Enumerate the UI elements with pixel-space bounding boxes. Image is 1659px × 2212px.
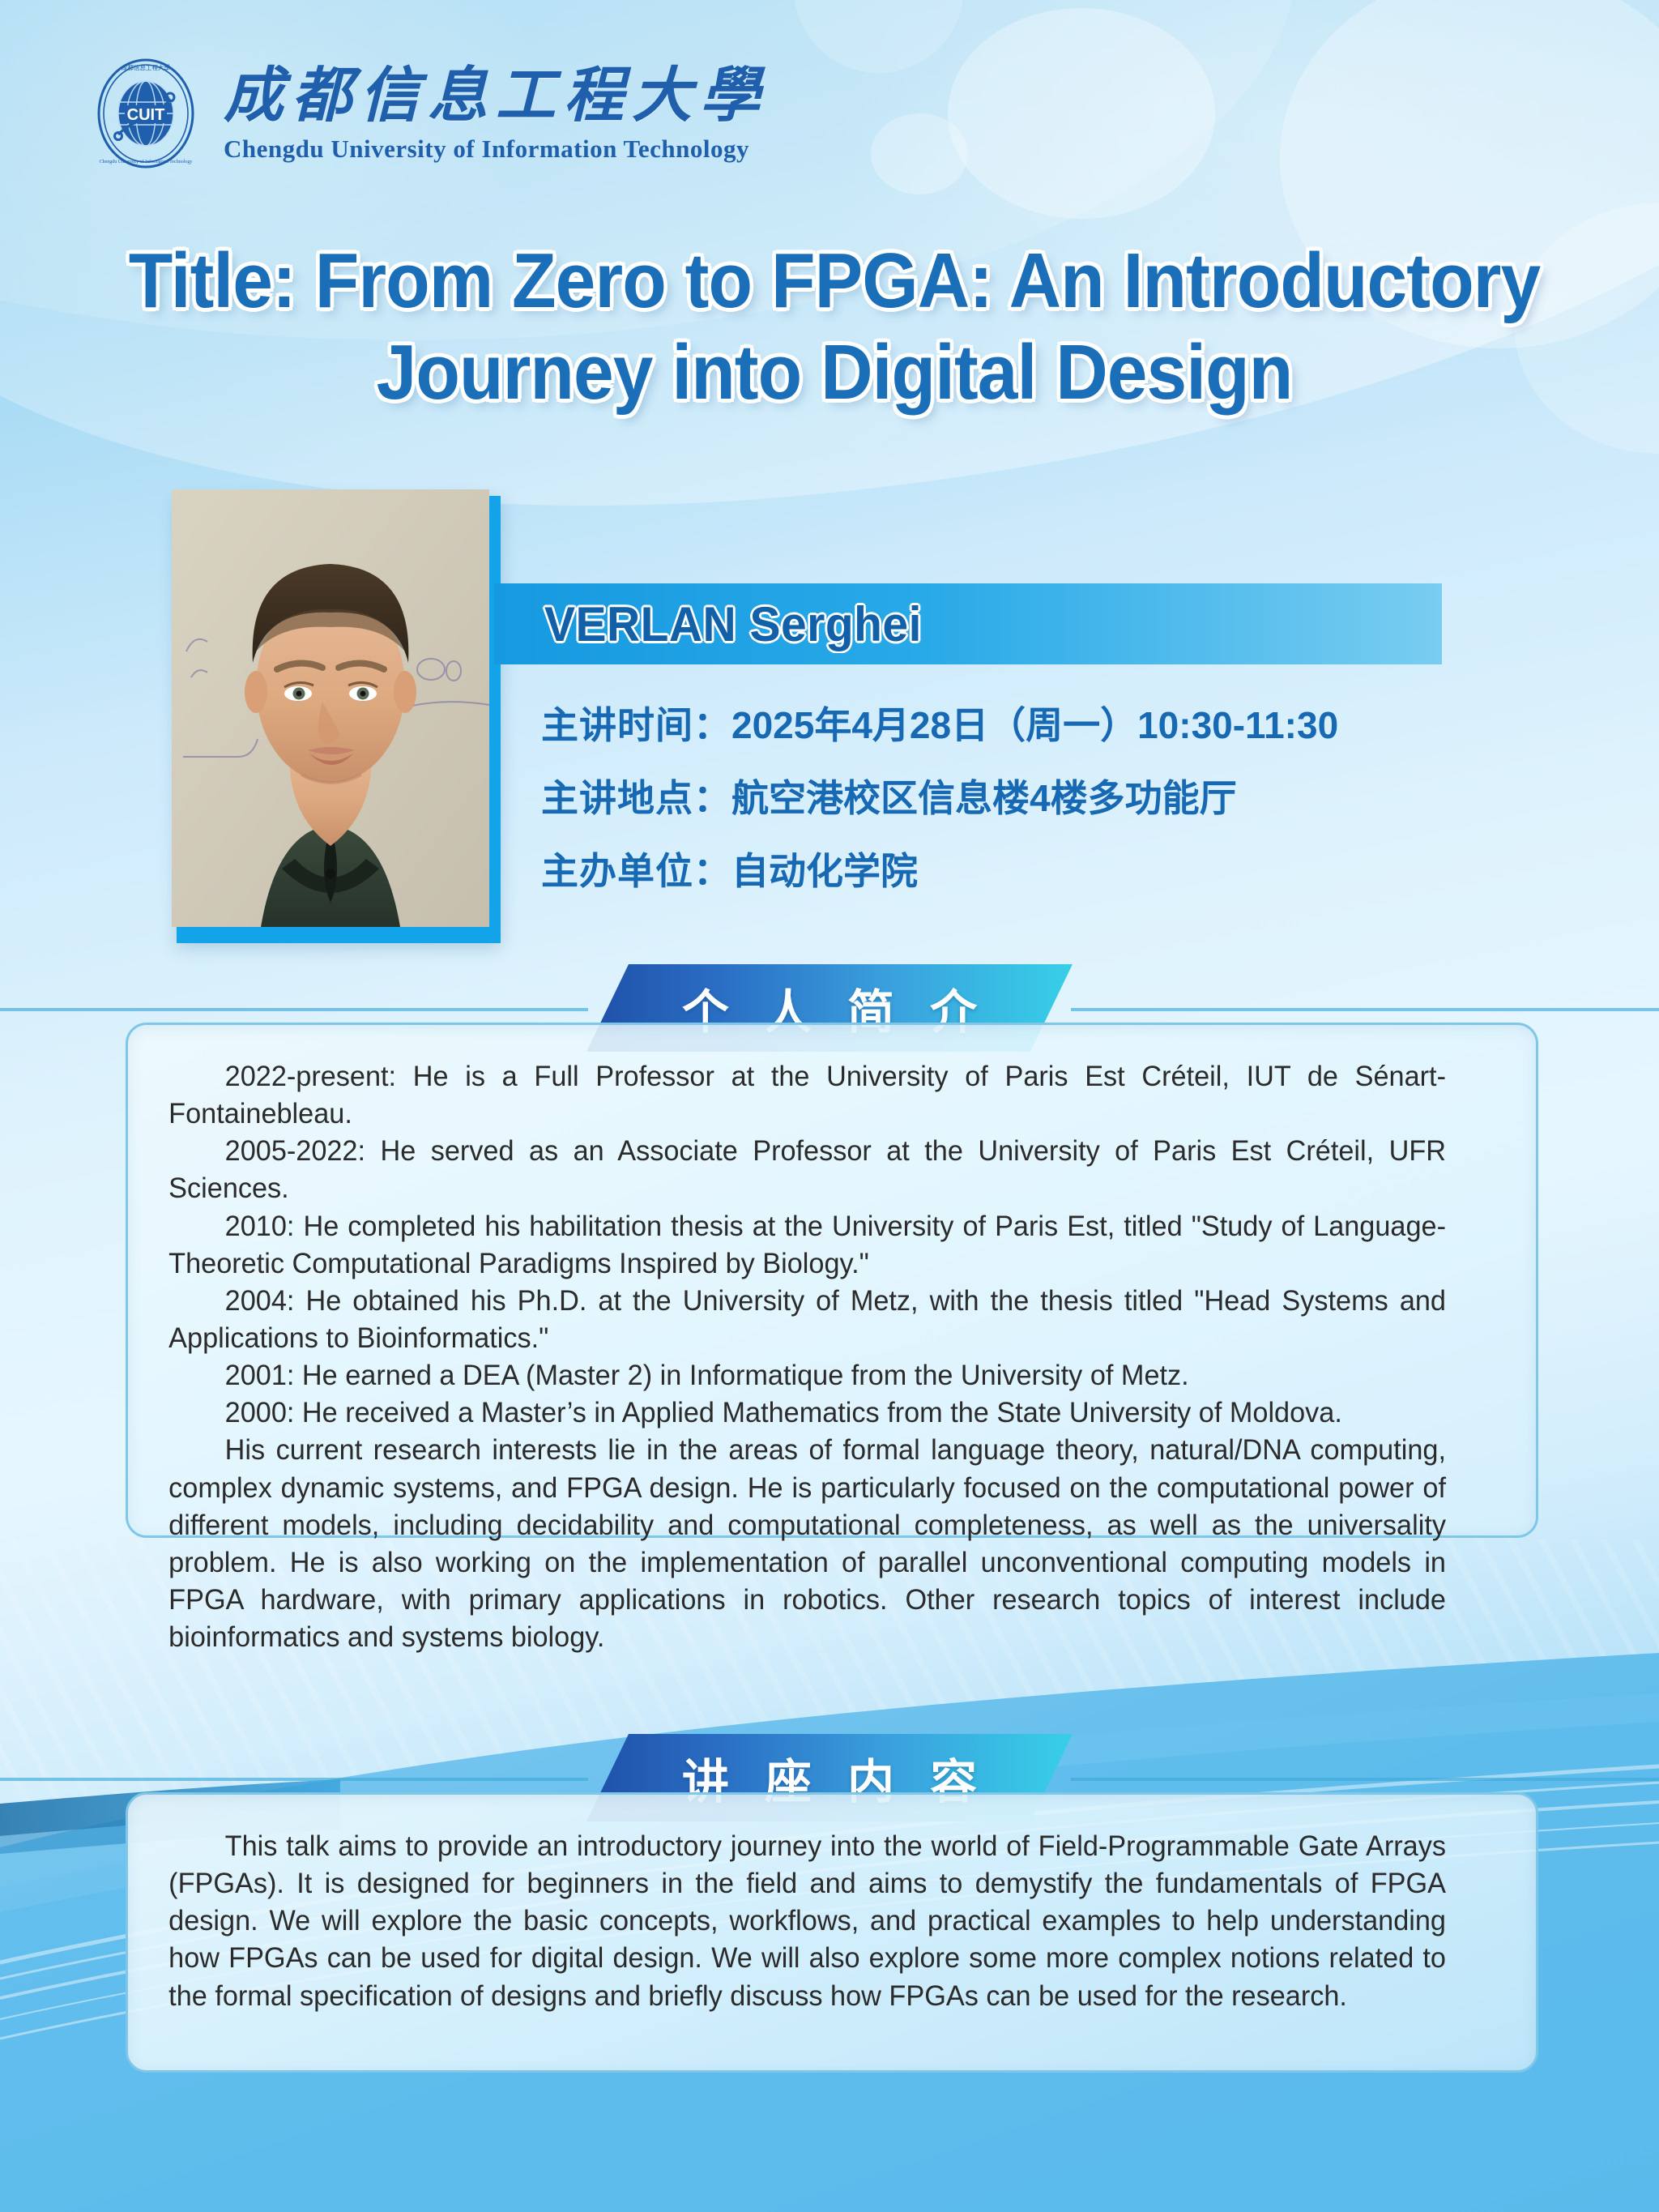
svg-text:Chengdu University of Informat: Chengdu University of Information Techno… [100,159,193,164]
speaker-name: VERLAN Serghei [544,596,922,652]
svg-text:成都信息工程大學: 成都信息工程大學 [122,63,170,71]
event-meta-list: 主讲时间：2025年4月28日（周一）10:30-11:30 主讲地点：航空港校… [541,707,1578,925]
event-meta-row: 主讲时间：2025年4月28日（周一）10:30-11:30 [541,707,1578,744]
bio-card: 2022-present: He is a Full Professor at … [126,1023,1538,1538]
bio-paragraph: 2022-present: He is a Full Professor at … [168,1057,1446,1132]
poster-root: CUIT 成都信息工程大學 Chengdu University of Info… [0,0,1659,2212]
title-line-2: Journey into Digital Design [126,327,1542,418]
banner-right-rule [1071,1778,1659,1781]
university-wordmark: 成都信息工程大學 Chengdu University of Informati… [224,66,768,161]
decorative-bubble [948,8,1215,219]
bio-paragraph: 2000: He received a Master’s in Applied … [168,1394,1446,1431]
decorative-bubble [794,0,964,73]
banner-left-rule [0,1008,588,1011]
banner-left-rule [0,1778,588,1781]
university-logo-row: CUIT 成都信息工程大學 Chengdu University of Info… [89,57,768,170]
svg-text:CUIT: CUIT [127,106,165,124]
university-name-en: Chengdu University of Information Techno… [224,136,768,161]
cuit-globe-logo-icon: CUIT 成都信息工程大學 Chengdu University of Info… [89,57,203,170]
event-meta-row: 主讲地点：航空港校区信息楼4楼多功能厅 [541,779,1578,817]
meta-value: 自动化学院 [731,850,918,892]
bio-paragraph: 2001: He earned a DEA (Master 2) in Info… [168,1356,1446,1394]
poster-title: Title: From Zero to FPGA: An Introductor… [126,235,1542,419]
meta-label: 主办单位： [541,850,731,892]
speaker-name-bar: VERLAN Serghei [494,583,1442,664]
university-name-cn: 成都信息工程大學 [224,66,768,126]
speaker-photo-frame [177,496,501,943]
bio-paragraph: 2005-2022: He served as an Associate Pro… [168,1132,1446,1206]
banner-right-rule [1071,1008,1659,1011]
title-line-1: Title: From Zero to FPGA: An Introductor… [126,235,1542,327]
abstract-paragraph: This talk aims to provide an introductor… [168,1827,1446,2014]
meta-value: 2025年4月28日（周一）10:30-11:30 [731,704,1338,746]
bio-paragraph: His current research interests lie in th… [168,1431,1446,1655]
speaker-portrait [172,489,489,927]
meta-value: 航空港校区信息楼4楼多功能厅 [731,777,1237,819]
decorative-bubble [871,113,968,194]
bio-card-body: 2022-present: He is a Full Professor at … [128,1025,1486,1691]
meta-label: 主讲地点： [541,777,731,819]
bio-paragraph: 2010: He completed his habilitation thes… [168,1207,1446,1282]
bio-paragraph: 2004: He obtained his Ph.D. at the Unive… [168,1282,1446,1356]
abstract-card-body: This talk aims to provide an introductor… [128,1795,1486,2050]
abstract-card: This talk aims to provide an introductor… [126,1792,1538,2073]
event-meta-row: 主办单位：自动化学院 [541,852,1578,890]
meta-label: 主讲时间： [541,704,731,746]
